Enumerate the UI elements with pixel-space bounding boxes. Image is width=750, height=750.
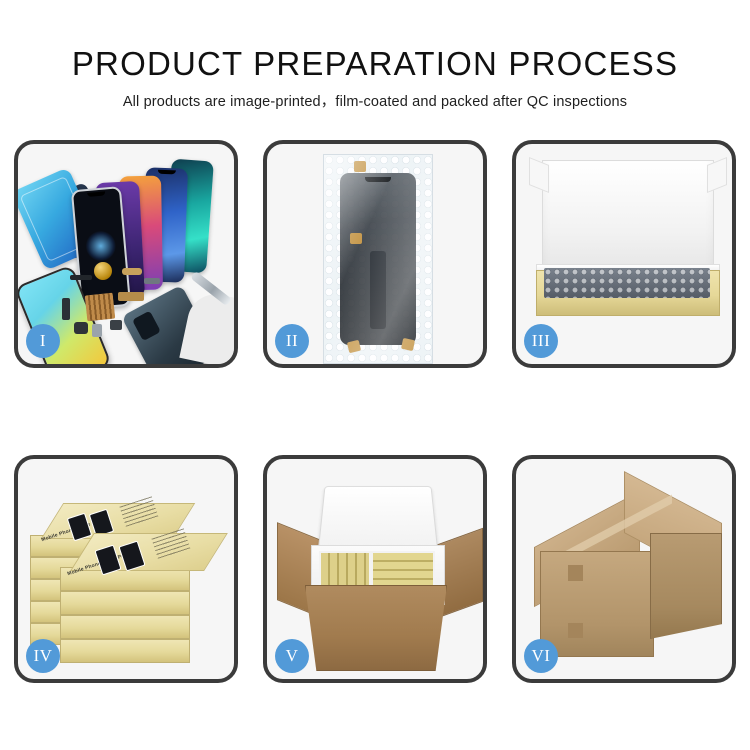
step-badge-3: III bbox=[524, 324, 558, 358]
part-chip-4-icon bbox=[74, 322, 88, 334]
carton-tab-2-icon bbox=[568, 623, 583, 638]
step-badge-4: IV bbox=[26, 639, 60, 673]
part-chip-3-icon bbox=[118, 292, 144, 301]
carton-front-face bbox=[540, 551, 654, 657]
panel-step-5: V bbox=[263, 455, 487, 683]
carton-side-face bbox=[650, 533, 722, 639]
process-grid: I II bbox=[14, 140, 736, 683]
wrapped-flex-cable-icon bbox=[370, 251, 386, 329]
tape-tab-4-icon bbox=[401, 338, 415, 351]
tape-tab-3-icon bbox=[347, 340, 361, 354]
panel-step-4: Mobile Phone Spare Parts Mobile Phone Sp… bbox=[14, 455, 238, 683]
infographic-page: PRODUCT PREPARATION PROCESS All products… bbox=[0, 0, 750, 750]
carton-tab-1-icon bbox=[568, 565, 583, 581]
speaker-part-icon bbox=[94, 262, 112, 280]
connector-icon bbox=[144, 278, 160, 284]
carton-body-icon bbox=[305, 585, 447, 671]
panel-step-6: VI bbox=[512, 455, 736, 683]
box-stack-group: Mobile Phone Spare Parts Mobile Phone Sp… bbox=[26, 475, 234, 675]
panel-step-2: II bbox=[263, 140, 487, 368]
part-chip-2-icon bbox=[122, 268, 142, 275]
stacked-box-f3 bbox=[60, 615, 190, 639]
step-badge-5: V bbox=[275, 639, 309, 673]
tape-tab-2-icon bbox=[350, 233, 362, 244]
tape-tab-1-icon bbox=[354, 161, 366, 172]
notch-icon bbox=[158, 170, 176, 175]
panel-step-3: III bbox=[512, 140, 736, 368]
bubble-wrapped-contents-icon bbox=[544, 268, 710, 298]
sealed-carton-group bbox=[534, 481, 724, 667]
part-chip-6-icon bbox=[110, 320, 122, 330]
part-chip-1-icon bbox=[70, 275, 92, 280]
step-badge-6: VI bbox=[524, 639, 558, 673]
page-title: PRODUCT PREPARATION PROCESS bbox=[0, 44, 750, 84]
step-badge-1: I bbox=[26, 324, 60, 358]
notch-icon bbox=[87, 191, 105, 197]
stacked-box-f2 bbox=[60, 591, 190, 615]
box-lid-icon bbox=[542, 160, 714, 280]
stacked-box-f4 bbox=[60, 639, 190, 663]
part-chip-5-icon bbox=[92, 324, 102, 337]
page-subtitle: All products are image-printed，film-coat… bbox=[0, 93, 750, 111]
header: PRODUCT PREPARATION PROCESS All products… bbox=[0, 44, 750, 111]
circuit-board-icon bbox=[85, 293, 116, 322]
panel-step-1: I bbox=[14, 140, 238, 368]
bubble-wrap-bag-icon bbox=[323, 154, 433, 364]
flex-cable-icon bbox=[62, 298, 70, 320]
step-badge-2: II bbox=[275, 324, 309, 358]
